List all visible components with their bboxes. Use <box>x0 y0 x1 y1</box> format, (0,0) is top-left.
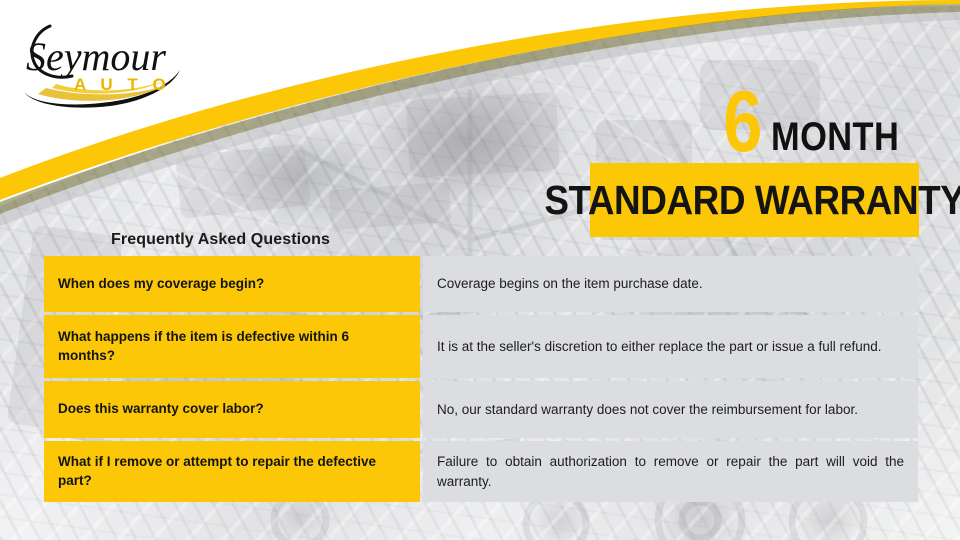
faq-answer: It is at the seller's discretion to eith… <box>423 315 918 378</box>
warranty-slide: Seymour A U T O 6 MONTH STANDARD WARRANT… <box>0 0 960 540</box>
duration-number: 6 <box>723 87 761 158</box>
faq-answer: Failure to obtain authorization to remov… <box>423 441 918 502</box>
standard-warranty-label: STANDARD WARRANTY <box>544 180 960 221</box>
faq-answer: No, our standard warranty does not cover… <box>423 381 918 438</box>
table-row: What happens if the item is defective wi… <box>44 315 918 378</box>
faq-question: What if I remove or attempt to repair th… <box>44 441 420 502</box>
faq-question: When does my coverage begin? <box>44 256 420 312</box>
faq-heading: Frequently Asked Questions <box>111 231 330 249</box>
duration-badge: 6 MONTH <box>600 58 920 158</box>
faq-question: Does this warranty cover labor? <box>44 381 420 438</box>
table-row: What if I remove or attempt to repair th… <box>44 441 918 502</box>
logo-script-text: Seymour <box>26 34 166 79</box>
duration-unit: MONTH <box>771 120 899 158</box>
logo-sub-text: A U T O <box>74 75 171 94</box>
table-row: Does this warranty cover labor? No, our … <box>44 381 918 438</box>
standard-warranty-band: STANDARD WARRANTY <box>590 163 919 237</box>
faq-table: When does my coverage begin? Coverage be… <box>44 256 918 502</box>
faq-question: What happens if the item is defective wi… <box>44 315 420 378</box>
seymour-auto-logo: Seymour A U T O <box>12 18 192 110</box>
table-row: When does my coverage begin? Coverage be… <box>44 256 918 312</box>
faq-answer: Coverage begins on the item purchase dat… <box>423 256 918 312</box>
